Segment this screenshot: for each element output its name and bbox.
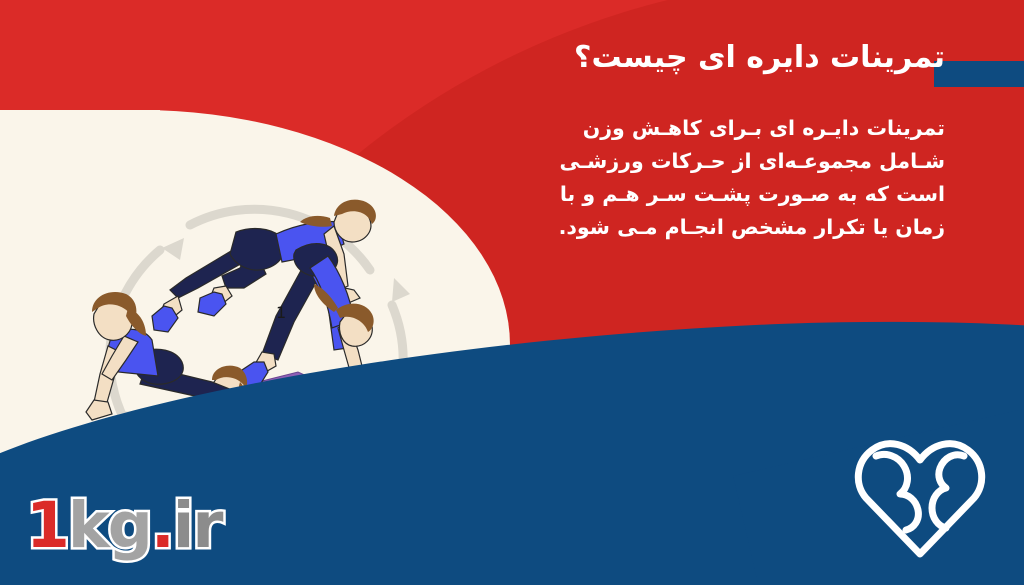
page-title: تمرینات دایره ای چیست؟ [574, 40, 945, 75]
infographic-canvas: 1 2 3 4 5 تمرینات دایره ای چیست؟ تمرینات… [0, 0, 1024, 585]
body-paragraph: تمرینات دایـره ای بـرای کاهـش وزن شـامل … [515, 112, 945, 244]
exercise-number-1: 1 [276, 303, 286, 322]
site-logo[interactable]: 1kg.ir [26, 494, 221, 557]
logo-part-one: 1 [26, 489, 68, 562]
heart-outline-icon [858, 444, 981, 554]
heart-muscle-logo [852, 436, 988, 561]
logo-part-dot: . [151, 489, 173, 562]
logo-part-kg: kg [68, 489, 151, 562]
logo-part-ir: ir [173, 489, 222, 562]
title-accent-bar [934, 61, 1024, 87]
